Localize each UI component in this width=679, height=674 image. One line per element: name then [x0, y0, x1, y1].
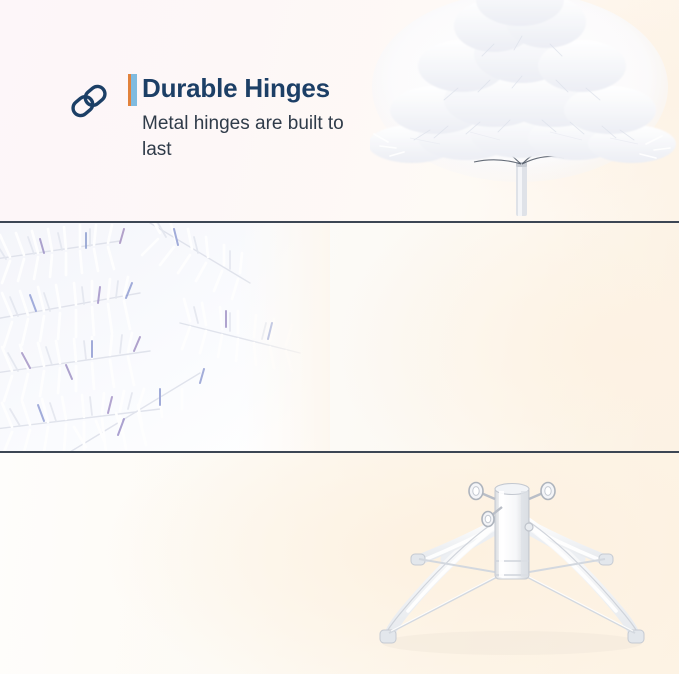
feature-subtext: Metal hinges are built to last: [128, 111, 366, 163]
photo-pvc-branch-closeup: [0, 223, 330, 452]
chain-link-icon: [66, 78, 112, 124]
panel-divider: [0, 451, 679, 453]
photo-white-christmas-tree: [370, 0, 679, 222]
feature-text-durable-hinges: Durable Hinges Metal hinges are built to…: [66, 72, 366, 163]
product-feature-infographic: Durable Hinges Metal hinges are built to…: [0, 0, 679, 674]
feature-panel-sturdy-base: Sturdy Base Strong, stable stand: [0, 453, 679, 674]
panel-divider: [0, 221, 679, 223]
feature-heading: Durable Hinges: [142, 72, 330, 106]
accent-bar-blue: [131, 74, 137, 106]
feature-panel-pvc-branches: PVC Branches Realistic, Flame-retardant …: [0, 223, 679, 452]
accent-bar: [128, 74, 137, 106]
feature-panel-durable-hinges: Durable Hinges Metal hinges are built to…: [0, 0, 679, 222]
photo-tree-stand: [345, 463, 679, 668]
